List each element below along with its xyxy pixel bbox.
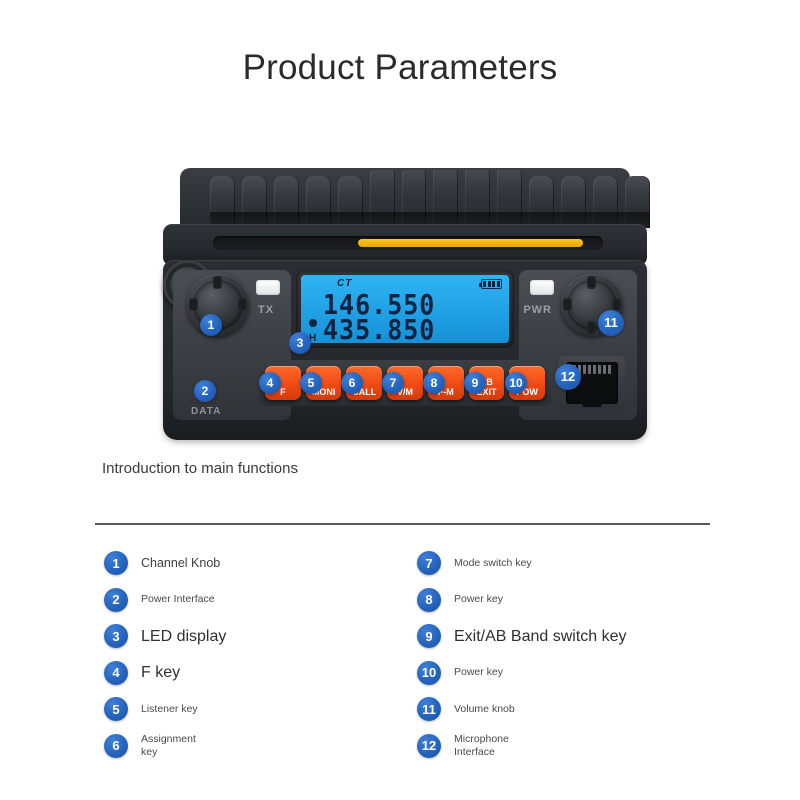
section-divider bbox=[95, 523, 710, 525]
legend-label: Microphone Interface bbox=[454, 733, 539, 758]
legend-section: 1 Channel Knob 2 Power Interface 3 LED d… bbox=[95, 545, 715, 775]
intro-text: Introduction to main functions bbox=[102, 459, 332, 479]
legend-badge: 6 bbox=[104, 734, 128, 758]
callout-badge-key-call: 6 bbox=[341, 372, 363, 394]
legend-column-right: 7 Mode switch key 8 Power key 9 Exit/AB … bbox=[417, 545, 717, 764]
legend-badge: 3 bbox=[104, 624, 128, 648]
tx-label: TX bbox=[258, 304, 274, 316]
knob-nub bbox=[563, 298, 572, 311]
callout-badge-volume-knob: 11 bbox=[598, 310, 624, 336]
battery-icon bbox=[481, 279, 502, 289]
data-label: DATA bbox=[191, 406, 221, 417]
accent-slot bbox=[213, 236, 603, 250]
legend-badge: 2 bbox=[104, 588, 128, 612]
callout-badge-mic-jack: 12 bbox=[555, 364, 581, 390]
legend-label: LED display bbox=[141, 627, 226, 646]
legend-item-12: 12 Microphone Interface bbox=[417, 728, 717, 765]
lcd-frequency-secondary: 435.850 bbox=[323, 313, 435, 343]
rj45-tab bbox=[582, 398, 602, 408]
legend-item-6: 6 Assignment key bbox=[104, 728, 404, 765]
lcd-bezel: CT 146.550 435.850 H bbox=[296, 270, 514, 348]
callout-badge-key-f: 4 bbox=[259, 372, 281, 394]
callout-badge-data-port: 2 bbox=[194, 380, 216, 402]
legend-label: Channel Knob bbox=[141, 556, 220, 571]
legend-item-10: 10 Power key bbox=[417, 655, 717, 692]
legend-item-2: 2 Power Interface bbox=[104, 582, 404, 619]
knob-nub bbox=[213, 276, 222, 289]
legend-item-4: 4 F key bbox=[104, 655, 404, 692]
legend-item-11: 11 Volume knob bbox=[417, 691, 717, 728]
accent-stripe-yellow bbox=[358, 239, 583, 247]
pwr-label: PWR bbox=[523, 304, 552, 316]
legend-label: F key bbox=[141, 663, 180, 682]
lcd-display: CT 146.550 435.850 H bbox=[301, 275, 509, 343]
callout-badge-channel-knob: 1 bbox=[200, 314, 222, 336]
legend-badge: 11 bbox=[417, 697, 441, 721]
pwr-indicator-led bbox=[530, 280, 554, 295]
legend-label: Power key bbox=[454, 593, 503, 606]
legend-label: Mode switch key bbox=[454, 557, 532, 570]
legend-label: Listener key bbox=[141, 703, 198, 716]
legend-label: Exit/AB Band switch key bbox=[454, 627, 627, 646]
legend-item-3: 3 LED display bbox=[104, 618, 404, 655]
legend-item-5: 5 Listener key bbox=[104, 691, 404, 728]
legend-label: Assignment key bbox=[141, 733, 211, 758]
callout-badge-key-vm: 7 bbox=[382, 372, 404, 394]
legend-label: Power Interface bbox=[141, 593, 215, 606]
legend-item-7: 7 Mode switch key bbox=[417, 545, 717, 582]
front-panel: TX DATA PWR CT 146.550 435.850 H bbox=[163, 260, 647, 440]
knob-nub bbox=[238, 298, 247, 311]
knob-nub bbox=[587, 321, 596, 334]
lcd-active-band-dot bbox=[309, 319, 317, 327]
legend-badge: 12 bbox=[417, 734, 441, 758]
legend-item-8: 8 Power key bbox=[417, 582, 717, 619]
callout-badge-key-ab-exit: 9 bbox=[464, 372, 486, 394]
legend-badge: 7 bbox=[417, 551, 441, 575]
callout-badge-key-pow: 10 bbox=[505, 372, 527, 394]
legend-badge: 9 bbox=[417, 624, 441, 648]
knob-nub bbox=[612, 298, 621, 311]
knob-nub bbox=[587, 276, 596, 289]
legend-badge: 1 bbox=[104, 551, 128, 575]
radio-device-illustration: TX DATA PWR CT 146.550 435.850 H bbox=[155, 168, 655, 440]
legend-item-1: 1 Channel Knob bbox=[104, 545, 404, 582]
page-title: Product Parameters bbox=[0, 48, 800, 88]
legend-column-left: 1 Channel Knob 2 Power Interface 3 LED d… bbox=[104, 545, 404, 764]
legend-badge: 4 bbox=[104, 661, 128, 685]
legend-badge: 5 bbox=[104, 697, 128, 721]
callout-badge-key-moni: 5 bbox=[300, 372, 322, 394]
legend-label: Power key bbox=[454, 666, 503, 679]
knob-nub bbox=[189, 298, 198, 311]
legend-badge: 10 bbox=[417, 661, 441, 685]
legend-badge: 8 bbox=[417, 588, 441, 612]
legend-item-9: 9 Exit/AB Band switch key bbox=[417, 618, 717, 655]
callout-badge-lcd: 3 bbox=[289, 332, 311, 354]
key-label: F bbox=[280, 388, 286, 397]
tx-indicator-led bbox=[256, 280, 280, 295]
legend-label: Volume knob bbox=[454, 703, 515, 716]
callout-badge-key-fm: 8 bbox=[423, 372, 445, 394]
